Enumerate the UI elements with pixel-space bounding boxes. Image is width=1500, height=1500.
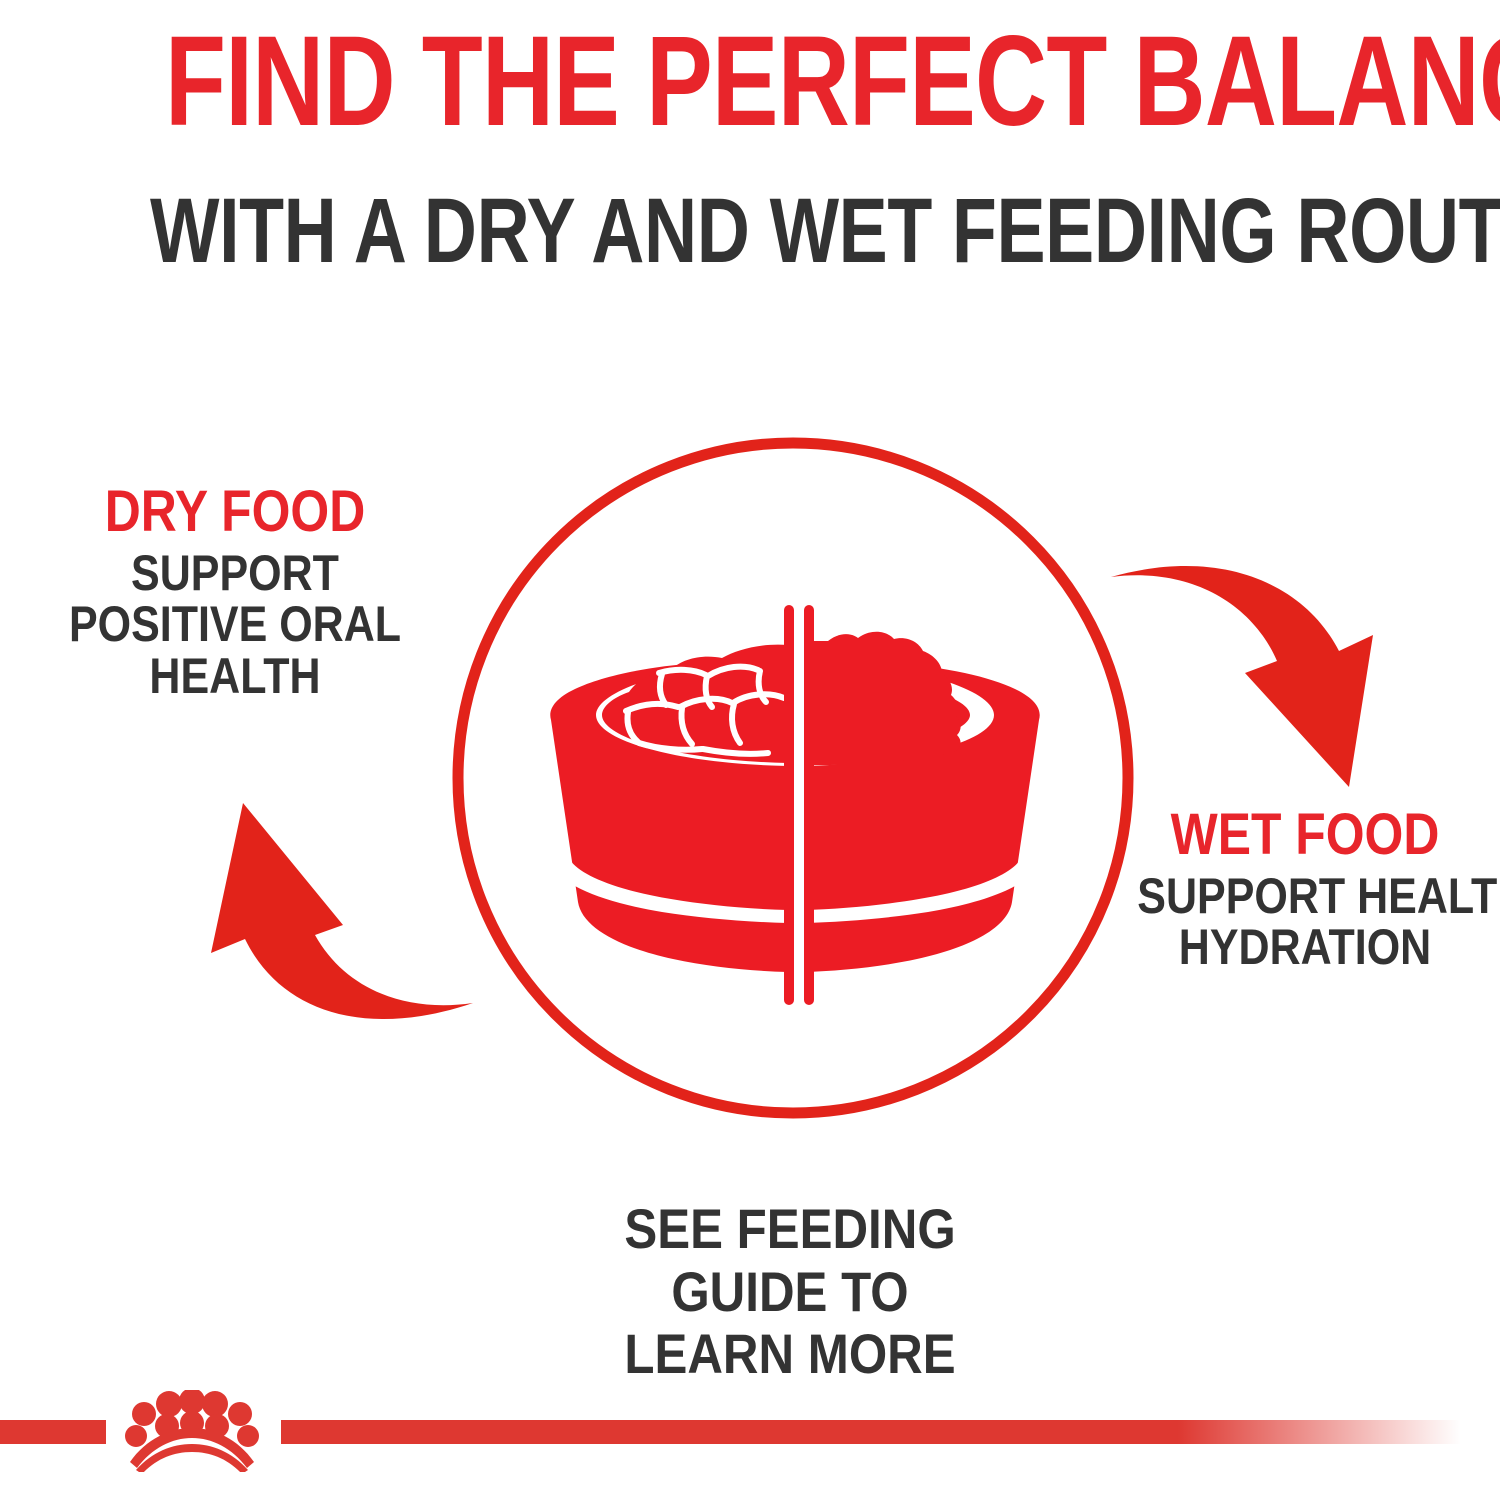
- bowl-icon: [550, 605, 1039, 1005]
- footer-bar-left-segment: [0, 1420, 106, 1444]
- wet-food-mound: [802, 632, 961, 765]
- curved-arrow-up-left-icon: [195, 775, 475, 1030]
- caption-line-3: LEARN MORE: [610, 1323, 971, 1386]
- divider-line-left: [784, 605, 794, 1005]
- wet-food-line-2: HYDRATION: [1137, 922, 1472, 974]
- caption-line-2: GUIDE TO: [610, 1261, 971, 1324]
- footer-bar-right-segment: [281, 1420, 1461, 1444]
- dry-food-line-3: HEALTH: [67, 651, 402, 703]
- wet-food-label-block: WET FOOD SUPPORT HEALTHY HYDRATION: [1110, 805, 1500, 974]
- dry-food-label-block: DRY FOOD SUPPORT POSITIVE ORAL HEALTH: [40, 482, 430, 702]
- royal-canin-crown-logo: [108, 1390, 276, 1472]
- infographic-page: FIND THE PERFECT BALANCE WITH A DRY AND …: [0, 0, 1500, 1500]
- dry-food-description: SUPPORT POSITIVE ORAL HEALTH: [67, 548, 402, 703]
- caption-line-1: SEE FEEDING: [610, 1198, 971, 1261]
- feeding-guide-caption: SEE FEEDING GUIDE TO LEARN MORE: [585, 1198, 995, 1386]
- page-headline: FIND THE PERFECT BALANCE: [165, 18, 1335, 146]
- wet-food-line-1: SUPPORT HEALTHY: [1137, 871, 1472, 923]
- dry-food-line-2: POSITIVE ORAL: [67, 599, 402, 651]
- curved-arrow-down-right-icon: [1105, 555, 1385, 810]
- wet-food-description: SUPPORT HEALTHY HYDRATION: [1137, 871, 1472, 974]
- page-subheadline: WITH A DRY AND WET FEEDING ROUTINE: [150, 185, 1350, 277]
- split-bowl-illustration: [430, 415, 1160, 1145]
- dry-food-line-1: SUPPORT: [67, 548, 402, 600]
- dry-food-title: DRY FOOD: [67, 482, 402, 542]
- wet-food-title: WET FOOD: [1137, 805, 1472, 865]
- divider-line-right: [804, 605, 814, 1005]
- divider-gap: [794, 605, 804, 1005]
